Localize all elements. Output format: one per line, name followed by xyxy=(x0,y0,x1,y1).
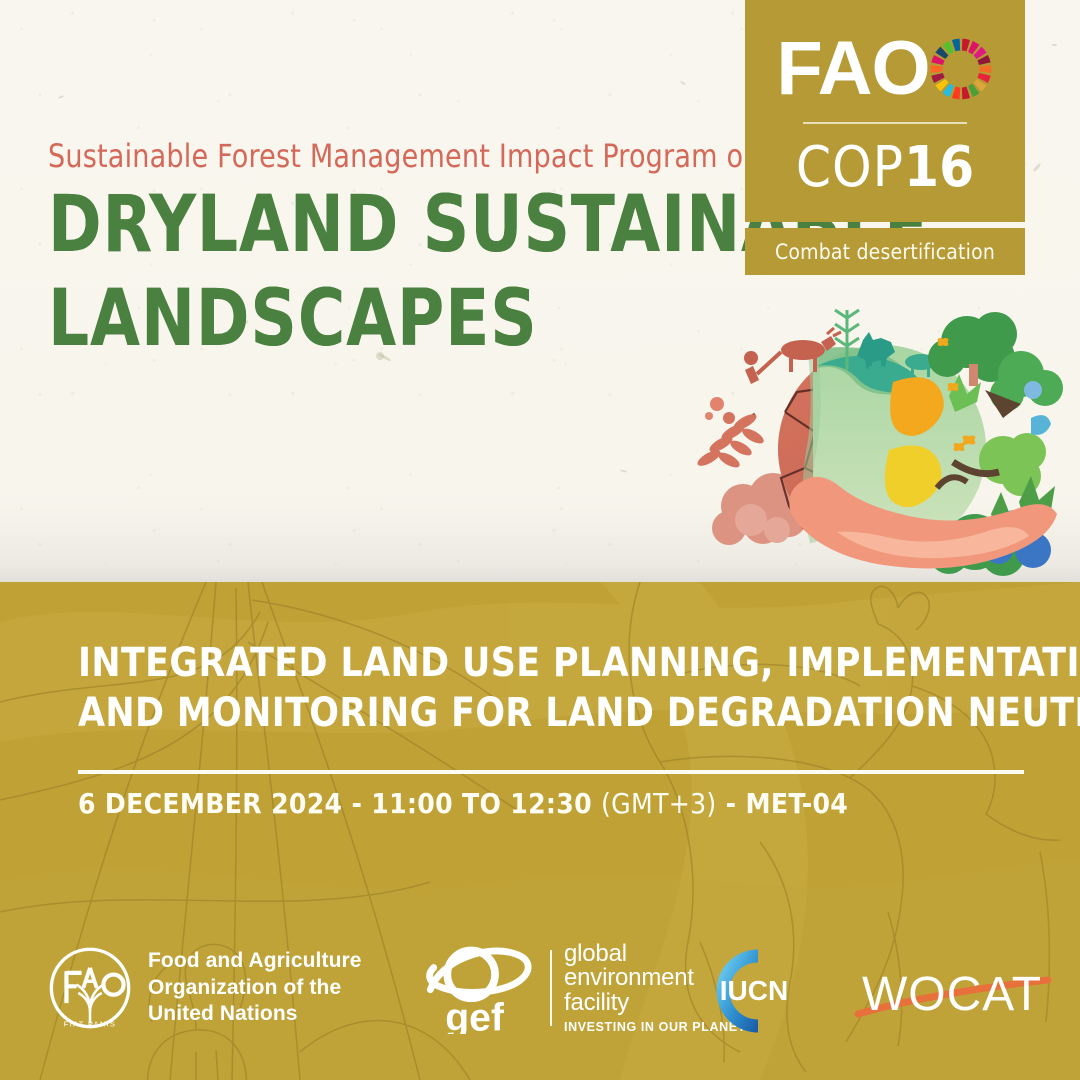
session-room: - MET-04 xyxy=(717,787,849,820)
logo-fao[interactable]: FIAT PANIS Food and Agriculture Organiza… xyxy=(48,946,362,1030)
headline-block: Sustainable Forest Management Impact Pro… xyxy=(48,140,728,357)
gef-emblem-icon: gef xyxy=(418,942,538,1034)
fao-name: Food and Agriculture Organization of the… xyxy=(148,948,362,1028)
fao-name-line-2: Organization of the xyxy=(148,975,362,1002)
paper-speck xyxy=(680,81,686,86)
fao-wordmark: FAO xyxy=(776,31,929,107)
cop16-row: COP 16 xyxy=(745,140,1025,196)
paper-speck xyxy=(58,95,64,99)
svg-text:WOCAT: WOCAT xyxy=(862,968,1042,1021)
title-divider xyxy=(78,770,1024,774)
fao-logo-row: FAO xyxy=(745,26,1025,112)
svg-text:gef: gef xyxy=(445,997,505,1034)
paper-speck xyxy=(620,469,627,473)
coral-plant-group xyxy=(695,397,766,470)
partner-logos: FIAT PANIS Food and Agriculture Organiza… xyxy=(0,926,1080,1056)
page-title: DRYLAND SUSTAINABLE LANDSCAPES xyxy=(48,188,674,357)
cop-label: COP xyxy=(796,140,904,196)
session-title-line-2: AND MONITORING FOR LAND DEGRADATION NEUT… xyxy=(78,688,1000,738)
top-cream-section: Sustainable Forest Management Impact Pro… xyxy=(0,0,1080,582)
logo-iucn[interactable]: IUCN xyxy=(694,948,804,1034)
gef-divider xyxy=(550,950,552,1026)
cop-number: 16 xyxy=(904,140,974,196)
poster-canvas: Sustainable Forest Management Impact Pro… xyxy=(0,0,1080,1080)
paper-speck xyxy=(1033,163,1042,172)
badge-divider xyxy=(803,122,967,124)
page-title-line-1: DRYLAND SUSTAINABLE xyxy=(48,188,674,264)
paper-speck xyxy=(1052,44,1057,46)
session-timezone: (GMT+3) xyxy=(601,787,717,820)
fao-name-line-1: Food and Agriculture xyxy=(148,948,362,975)
dryland-globe-illustration xyxy=(685,292,1080,582)
session-title: INTEGRATED LAND USE PLANNING, IMPLEMENTA… xyxy=(78,638,1000,739)
sdg-wheel-icon xyxy=(928,36,994,102)
svg-text:FIAT PANIS: FIAT PANIS xyxy=(64,1020,116,1029)
svg-text:IUCN: IUCN xyxy=(720,975,788,1006)
fao-name-line-3: United Nations xyxy=(148,1001,362,1028)
session-title-line-1: INTEGRATED LAND USE PLANNING, IMPLEMENTA… xyxy=(78,638,1000,688)
fao-emblem-icon: FIAT PANIS xyxy=(48,946,132,1030)
fao-cop16-badge: FAO COP 16 xyxy=(745,0,1025,222)
page-title-line-2: LANDSCAPES xyxy=(48,282,674,358)
combat-desertification-label: Combat desertification xyxy=(775,240,995,264)
session-date-prefix: 6 DECEMBER 2024 - 11:00 TO 12:30 xyxy=(78,787,601,820)
combat-desertification-box: Combat desertification xyxy=(745,228,1025,275)
session-datetime: 6 DECEMBER 2024 - 11:00 TO 12:30 (GMT+3)… xyxy=(78,784,848,823)
logo-wocat[interactable]: WOCAT xyxy=(852,958,1052,1028)
program-kicker: Sustainable Forest Management Impact Pro… xyxy=(48,140,687,172)
event-details-section: INTEGRATED LAND USE PLANNING, IMPLEMENTA… xyxy=(0,582,1080,1080)
